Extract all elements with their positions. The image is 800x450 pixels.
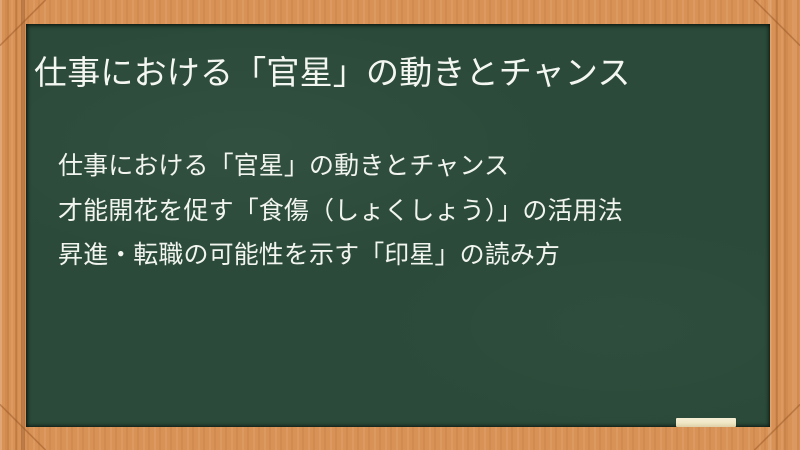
list-item: 仕事における「官星」の動きとチャンス [58,148,758,184]
table-of-contents-list: 仕事における「官星」の動きとチャンス 才能開花を促す「食傷（しょくしょう）」の活… [58,148,758,282]
page-title: 仕事における「官星」の動きとチャンス [34,52,758,95]
frame-grain-left [0,0,27,450]
chalk-stick-icon [676,418,736,427]
frame-grain-right [768,0,800,450]
list-item: 才能開花を促す「食傷（しょくしょう）」の活用法 [58,193,758,229]
list-item: 昇進・転職の可能性を示す「印星」の読み方 [58,237,758,273]
slide-canvas: 仕事における「官星」の動きとチャンス 仕事における「官星」の動きとチャンス 才能… [0,0,800,450]
chalkboard-surface: 仕事における「官星」の動きとチャンス 仕事における「官星」の動きとチャンス 才能… [26,24,770,427]
